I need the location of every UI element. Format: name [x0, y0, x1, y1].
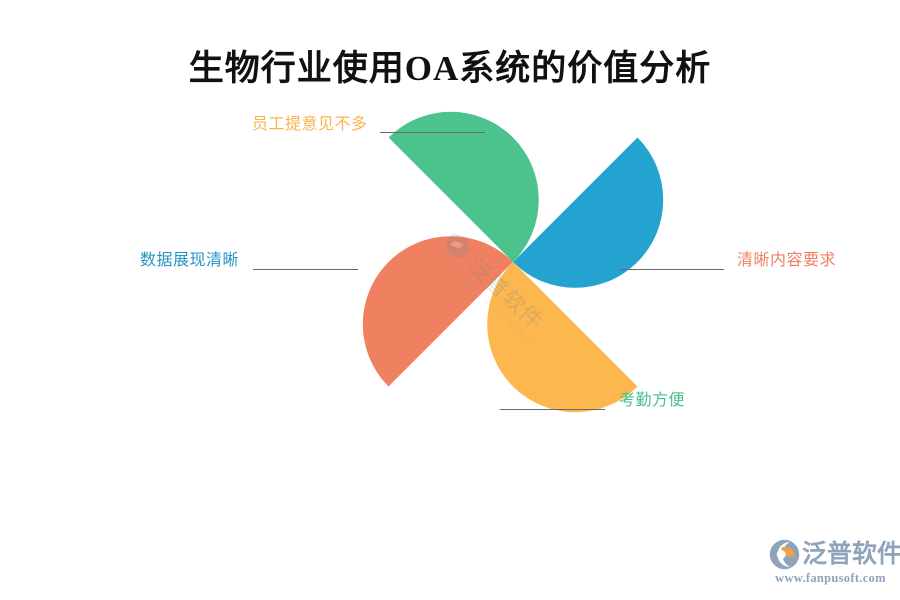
callout-clear-content-requirement[interactable]: 清晰内容要求	[619, 246, 836, 270]
callout-label-clear-content-requirement: 清晰内容要求	[737, 246, 836, 270]
callout-employee-feedback[interactable]: 员工提意见不多	[252, 110, 485, 134]
fanpu-logo-icon	[768, 538, 801, 571]
callout-attendance-convenient[interactable]: 考勤方便	[500, 386, 685, 410]
brand-row: 泛普软件	[768, 536, 893, 572]
callout-label-clear-data-presentation: 数据展现清晰	[140, 246, 239, 270]
brand-logo[interactable]: 泛普软件 www.fanpusoft.com	[768, 536, 893, 592]
callout-clear-data-presentation[interactable]: 数据展现清晰	[140, 246, 358, 270]
leader-line-icon	[500, 409, 605, 410]
brand-url: www.fanpusoft.com	[768, 571, 893, 586]
callout-label-employee-feedback: 员工提意见不多	[252, 110, 368, 134]
slide-canvas: 生物行业使用OA系统的价值分析 泛普软件 FANPU SOFTWARE 员工提意…	[0, 0, 900, 600]
brand-name: 泛普软件	[802, 538, 900, 571]
leader-line-icon	[380, 132, 485, 133]
leader-line-icon	[619, 269, 724, 270]
leader-line-icon	[253, 269, 358, 270]
callout-label-attendance-convenient: 考勤方便	[619, 386, 685, 410]
pinwheel-chart	[0, 0, 900, 600]
